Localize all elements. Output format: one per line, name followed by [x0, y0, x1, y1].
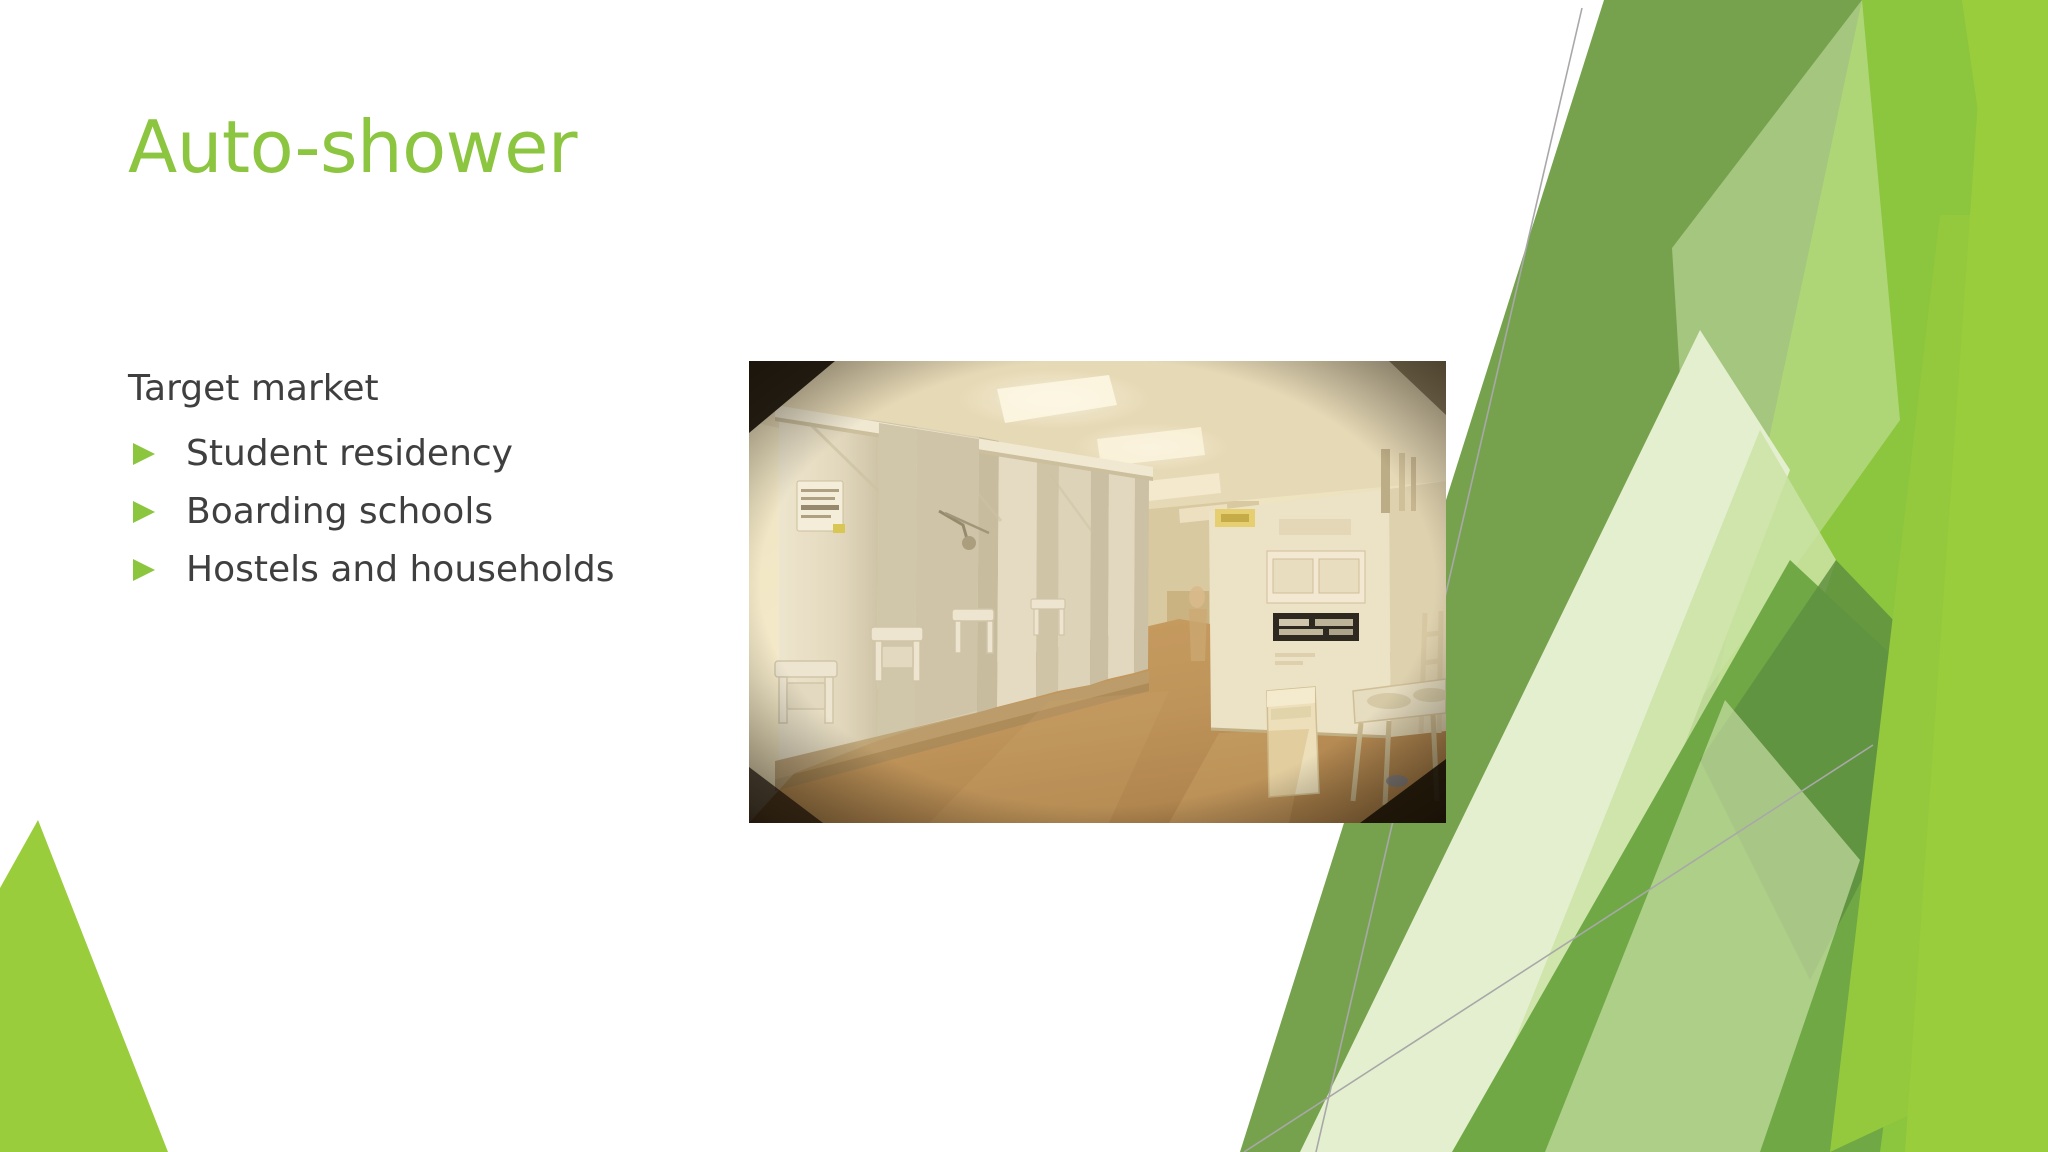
list-item-label: Hostels and households	[186, 549, 615, 591]
decor-shape-lime-edge	[1905, 0, 2048, 1152]
decor-shape-bright-shard	[1830, 215, 2048, 1152]
decor-shape-pale-overlay-lower	[1545, 700, 1860, 1152]
list-item: Boarding schools	[128, 490, 748, 534]
decor-shape-pale-upper	[1672, 0, 1900, 700]
bullet-list: Student residency Boarding schools Hoste…	[128, 432, 748, 592]
slide-canvas: Auto-shower Target market Student reside…	[0, 0, 2048, 1152]
triangle-right-bullet-icon	[130, 556, 158, 584]
decor-shape-mid-green-band	[1452, 560, 1940, 1152]
shower-room-photo-image	[749, 361, 1446, 823]
slide-title: Auto-shower	[128, 108, 577, 187]
content-text-block: Target market Student residency Boarding…	[128, 368, 748, 606]
list-item: Student residency	[128, 432, 748, 476]
triangle-right-bullet-icon	[130, 498, 158, 526]
lead-line: Target market	[128, 368, 748, 410]
decor-shape-olive-overlap	[1700, 560, 1960, 980]
list-item-label: Student residency	[186, 433, 513, 475]
list-item-label: Boarding schools	[186, 491, 493, 533]
decor-shape-right-lime	[1580, 0, 2048, 1152]
decor-shape-left-sliver	[0, 820, 168, 1152]
decor-shape-right-leaf	[1490, 0, 2048, 1152]
triangle-right-bullet-icon	[130, 440, 158, 468]
list-item: Hostels and households	[128, 548, 748, 592]
shower-room-photo	[749, 361, 1446, 823]
decor-shape-pale-narrow	[1470, 430, 1836, 1152]
